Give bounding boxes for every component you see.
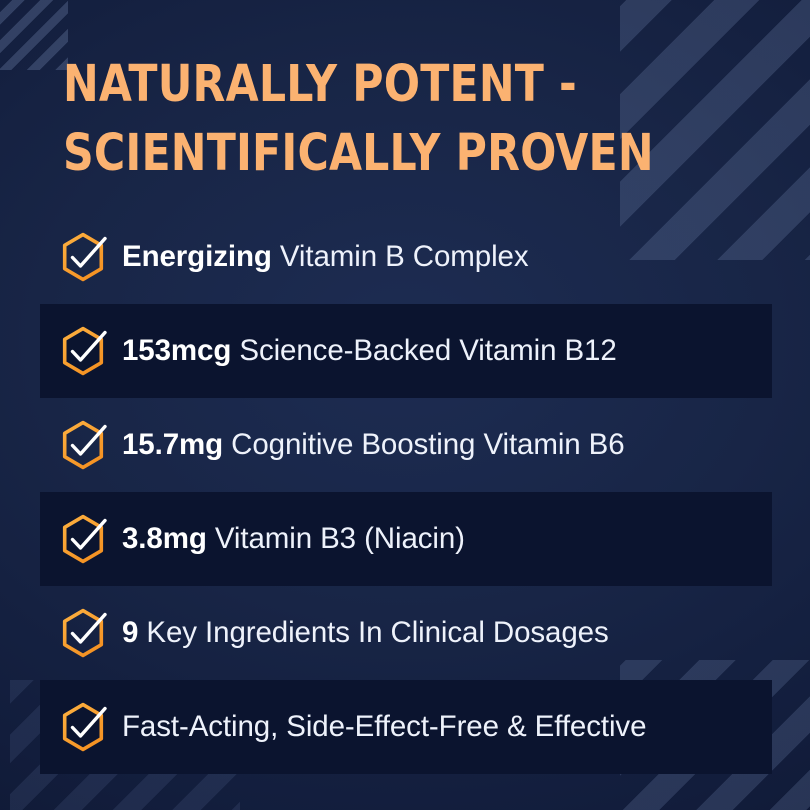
feature-row: Energizing Vitamin B Complex: [0, 210, 810, 304]
feature-lead: 9: [122, 616, 138, 649]
feature-text: Fast-Acting, Side-Effect-Free & Effectiv…: [122, 712, 646, 742]
feature-lead: 153mcg: [122, 334, 231, 367]
feature-row: Fast-Acting, Side-Effect-Free & Effectiv…: [0, 680, 810, 774]
promo-card: Naturally Potent - Scientifically Proven…: [0, 0, 810, 810]
hexagon-check-icon: [60, 702, 106, 752]
feature-rest: Vitamin B3 (Niacin): [207, 522, 465, 555]
feature-rest: Science-Backed Vitamin B12: [231, 334, 616, 367]
feature-lead: Energizing: [122, 240, 272, 273]
feature-text: 3.8mg Vitamin B3 (Niacin): [122, 524, 465, 554]
feature-text: 15.7mg Cognitive Boosting Vitamin B6: [122, 430, 625, 460]
feature-row: 153mcg Science-Backed Vitamin B12: [0, 304, 810, 398]
page-title: Naturally Potent - Scientifically Proven: [63, 50, 714, 189]
feature-rest: Cognitive Boosting Vitamin B6: [223, 428, 625, 461]
feature-list: Energizing Vitamin B Complex153mcg Scien…: [0, 210, 810, 774]
feature-text: Energizing Vitamin B Complex: [122, 242, 529, 272]
feature-lead: 15.7mg: [122, 428, 223, 461]
decorative-stripes-top-left: [0, 0, 68, 70]
hexagon-check-icon: [60, 514, 106, 564]
hexagon-check-icon: [60, 232, 106, 282]
hexagon-check-icon: [60, 420, 106, 470]
feature-lead: 3.8mg: [122, 522, 207, 555]
feature-rest: Vitamin B Complex: [272, 240, 529, 273]
feature-row: 9 Key Ingredients In Clinical Dosages: [0, 586, 810, 680]
feature-row: 3.8mg Vitamin B3 (Niacin): [0, 492, 810, 586]
hexagon-check-icon: [60, 326, 106, 376]
feature-row: 15.7mg Cognitive Boosting Vitamin B6: [0, 398, 810, 492]
feature-text: 153mcg Science-Backed Vitamin B12: [122, 336, 617, 366]
feature-rest: Fast-Acting, Side-Effect-Free & Effectiv…: [122, 710, 646, 743]
hexagon-check-icon: [60, 608, 106, 658]
feature-text: 9 Key Ingredients In Clinical Dosages: [122, 618, 609, 648]
feature-rest: Key Ingredients In Clinical Dosages: [138, 616, 608, 649]
